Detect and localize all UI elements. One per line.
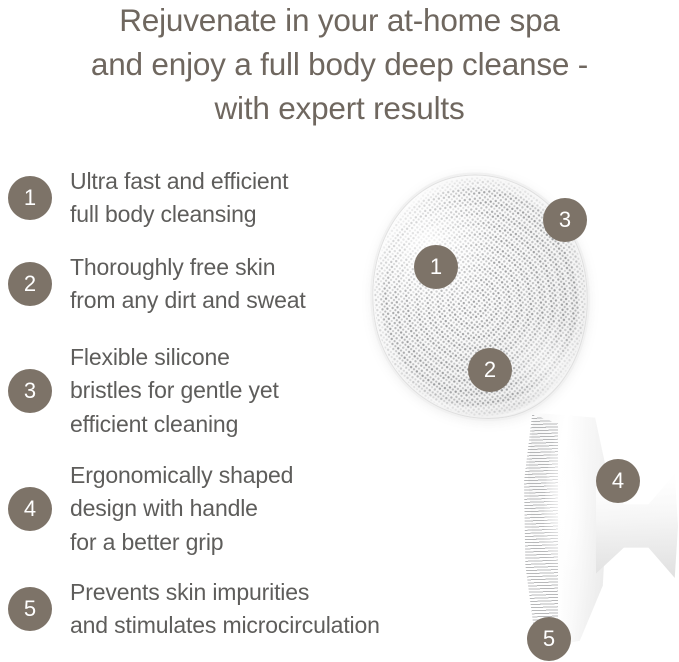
- feature-text-5: Prevents skin impurities and stimulates …: [70, 576, 380, 643]
- infographic-page: Rejuvenate in your at-home spa and enjoy…: [0, 0, 679, 662]
- feature-number-badge-2: 2: [8, 262, 52, 306]
- product-image-group: [352, 150, 679, 662]
- feature-number-badge-5: 5: [8, 587, 52, 631]
- headline-line-3: with expert results: [0, 86, 679, 130]
- feature-number-badge-4: 4: [8, 487, 52, 531]
- headline-line-2: and enjoy a full body deep cleanse -: [0, 42, 679, 86]
- product-callout-badge-3: 3: [543, 198, 587, 242]
- feature-text-4: Ergonomically shaped design with handle …: [70, 459, 293, 560]
- feature-number-badge-1: 1: [8, 176, 52, 220]
- feature-text-3: Flexible silicone bristles for gentle ye…: [70, 341, 279, 442]
- product-callout-badge-5: 5: [527, 617, 571, 661]
- product-callout-badge-4: 4: [596, 459, 640, 503]
- feature-text-1: Ultra fast and efficient full body clean…: [70, 165, 288, 232]
- brush-side-view-image: [502, 408, 677, 662]
- feature-number-badge-3: 3: [8, 369, 52, 413]
- product-callout-badge-1: 1: [414, 245, 458, 289]
- headline-line-1: Rejuvenate in your at-home spa: [0, 0, 679, 42]
- product-callout-badge-2: 2: [468, 348, 512, 392]
- feature-text-2: Thoroughly free skin from any dirt and s…: [70, 251, 306, 318]
- page-title: Rejuvenate in your at-home spa and enjoy…: [0, 0, 679, 130]
- brush-disc-highlight: [544, 418, 596, 634]
